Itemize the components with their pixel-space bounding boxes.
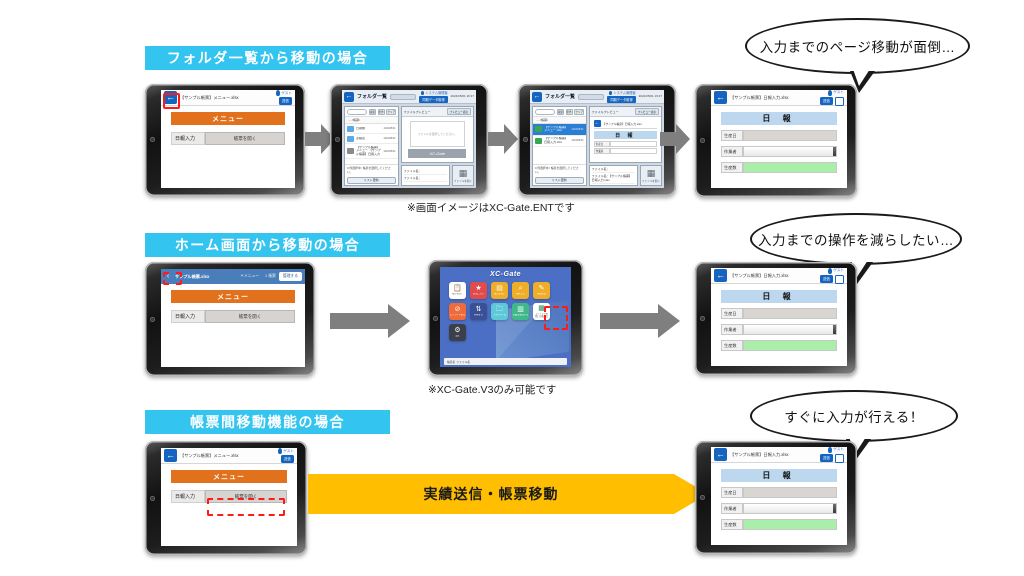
file-name-row: ファイル名： (404, 176, 447, 182)
app-icon-folders[interactable]: 🗀 フォルダ一覧 (491, 303, 508, 320)
section-header-label: ホーム画面から移動の場合 (175, 235, 361, 255)
user-label: ゲスト (828, 447, 844, 453)
user-label: ゲスト (276, 90, 292, 96)
highlight-daily-report-icon (544, 306, 568, 330)
tablet-screen: ← 【サンプル帳票】メニュー.xlsx ゲスト 送信 メニュー 日報入力 帳票を… (161, 90, 295, 188)
user-label: ゲスト (828, 268, 844, 274)
user-label: ゲスト (828, 90, 844, 96)
scrollbar[interactable] (833, 325, 836, 334)
report-title: 日 報 (721, 290, 837, 303)
sync-button[interactable]: 同期データ取得 (607, 96, 635, 103)
flow-arrow-3 (660, 122, 690, 156)
app-icon-find-form[interactable]: ▤ 帳票を探す (491, 282, 508, 299)
xcgate-report-app: ← 【サンプル帳票】日報入力.xlsx ゲスト 送信 日 報 (711, 90, 847, 188)
file-name-label: 【サンプル帳票】日報入力.xlsx (730, 95, 817, 101)
breadcrumb: ...../帳票/ (345, 116, 398, 124)
gear-icon: ⚙ (454, 327, 460, 334)
preview-body: ← 【サンプル帳票】日報入力.xlsx 日 報 生産日 (590, 117, 661, 162)
folder-icon (347, 136, 354, 142)
clock-label: 2024/05/01 16:37 (451, 95, 474, 98)
list-item[interactable]: 【サンプル帳票】メニュー 【サンプル帳票】日報入力 2024/05/01 (345, 144, 398, 159)
user-label: システム管理者 (421, 90, 447, 95)
search-button[interactable]: 検索 (557, 109, 564, 115)
home-button-icon[interactable] (150, 496, 155, 501)
sync-icon: ⇅ (476, 306, 482, 313)
menu-row-label: 日報入力 (171, 132, 205, 145)
tablet-row3-menu: ← 【サンプル帳票】メニュー.xlsx ゲスト 送信 メニュー 日報入力 帳票を… (145, 441, 307, 555)
user-icon (609, 91, 612, 95)
report-row: 作業者 (594, 148, 657, 154)
file-name-label: 【サンプル帳票】日報入力.xlsx (730, 273, 817, 279)
speech-bubble-text: 入力までの操作を減らしたい… (758, 229, 954, 249)
caption-row2: ※XC-Gate.V3のみ可能です (428, 382, 556, 397)
report-row: 生産日 (721, 130, 837, 141)
highlight-back-button (163, 93, 180, 109)
app-toolbar: ← 【サンプル帳票】日報入力.xlsx ゲスト 送信 (711, 268, 847, 284)
calendar-icon: ▦ (647, 169, 656, 178)
list-item[interactable]: 日報類 2024/05/01 (345, 124, 398, 134)
search-row: 検索 条件 クリア (533, 107, 586, 116)
menu-row: 日報入力 帳票を開く (171, 310, 295, 323)
folder-toolbar-right: システム管理者 同期データ取得 (419, 90, 447, 103)
preview-toggle-button[interactable]: プレビュー表示 (635, 108, 659, 115)
clock-label: 2024/05/01 16:37 (639, 95, 662, 98)
preview-toolbar: ファイルプレビュー プレビュー表示 (402, 107, 473, 117)
menu-title: メニュー (171, 112, 285, 125)
folder-icon: 🗀 (496, 306, 503, 313)
tablet-row2-home: XC-Gate 📋 帳票を開く ★ お気に入り ▤ 帳票を探す (428, 260, 583, 376)
toolbar-right: ゲスト 送信 (276, 90, 292, 105)
folder-toolbar: ← フォルダ一覧 システム管理者 同期データ取得 2024/05/01 16:3… (530, 90, 664, 104)
clipboard-icon: 📋 (453, 285, 462, 292)
folder-items: 【サンプル帳票】メニュー.xlsx 2024/05/01 【サンプル帳票】日報入… (533, 124, 586, 164)
preview-toolbar: ファイルプレビュー プレビュー表示 (590, 107, 661, 117)
app-toolbar: ← 【サンプル帳票】日報入力.xlsx ゲスト 送信 (711, 447, 847, 463)
app-toolbar: ‹ サンプル帳票.xlsx ＊メニュー 1 帳票 管理する (161, 269, 305, 284)
preview-empty-message: ファイルを選択してください。 (410, 121, 465, 147)
back-icon[interactable]: ← (164, 449, 177, 462)
quantity-field[interactable] (743, 340, 837, 351)
tablet-row1-folderlist: ← フォルダ一覧 システム管理者 同期データ取得 2024/05/01 16:3… (330, 84, 488, 196)
user-icon (278, 448, 282, 454)
mini-report-preview: ← 【サンプル帳票】日報入力.xlsx 日 報 生産日 (592, 119, 659, 155)
toolbar-right: ゲスト 送信 (820, 447, 844, 463)
folder-icon (347, 126, 354, 132)
open-file-button[interactable]: ▦ ファイルを開く (452, 165, 474, 186)
file-name-label: 【サンプル帳票】日報入力.xlsx (730, 452, 817, 458)
menu-row: 日報入力 帳票を開く (171, 132, 285, 145)
tablet-row2-report: ← 【サンプル帳票】日報入力.xlsx ゲスト 送信 日 報 (695, 262, 857, 375)
app-icon-grid: 📋 帳票を開く ★ お気に入り ▤ 帳票を探す ⌕ 検索する (449, 282, 550, 341)
file-name-row: ファイル名： (404, 169, 447, 175)
search-input[interactable] (535, 109, 556, 115)
back-icon[interactable]: ← (344, 92, 354, 102)
tablet-row2-menu: ‹ サンプル帳票.xlsx ＊メニュー 1 帳票 管理する メニュー 日報入力 … (145, 262, 315, 376)
condition-button[interactable]: 条件 (566, 109, 573, 115)
report-row: 作業者 (721, 503, 837, 514)
tablet-screen: ‹ サンプル帳票.xlsx ＊メニュー 1 帳票 管理する メニュー 日報入力 … (161, 269, 305, 367)
user-icon (828, 90, 832, 96)
back-icon[interactable]: ← (714, 448, 727, 461)
search-button[interactable]: 検索 (369, 109, 376, 115)
file-name-row: ファイル名：【サンプル帳票】日報入力.xlsx (592, 174, 635, 184)
section-header-form-jump: 帳票間移動機能の場合 (145, 410, 390, 434)
home-button-icon[interactable] (523, 137, 528, 142)
highlight-back-chevron (163, 272, 182, 285)
tablet-row3-report: ← 【サンプル帳票】日報入力.xlsx ゲスト 送信 日 報 (695, 441, 857, 554)
breadcrumb: ...../帳票/ (533, 116, 586, 124)
app-toolbar: ← 【サンプル帳票】日報入力.xlsx ゲスト 送信 (711, 90, 847, 106)
home-button-icon[interactable] (700, 495, 705, 500)
home-button-icon[interactable] (150, 317, 155, 322)
xcgate-menu-app-v3: ‹ サンプル帳票.xlsx ＊メニュー 1 帳票 管理する メニュー 日報入力 … (161, 269, 305, 367)
folder-list-panel: 検索 条件 クリア ...../帳票/ 【サンプル帳票】メニュー.xlsx 20… (532, 106, 587, 186)
tablet-screen: ← 【サンプル帳票】日報入力.xlsx ゲスト 送信 日 報 (711, 90, 847, 188)
file-name-label: 【サンプル帳票】メニュー.xlsx (180, 95, 273, 101)
report-field[interactable] (610, 148, 657, 154)
folder-status: 0 件選択中 / 帳票を選択してください。 (345, 164, 398, 175)
speech-bubble-3: すぐに入力が行える！ (750, 390, 958, 442)
file-name-rows: ファイル名： ファイル名：【サンプル帳票】日報入力.xlsx (589, 165, 638, 186)
user-icon (276, 90, 280, 96)
menu-row-label: 日報入力 (171, 490, 205, 503)
back-icon[interactable]: ← (594, 120, 601, 127)
menu-icon[interactable] (835, 97, 844, 106)
open-form-button[interactable]: 帳票を開く (205, 132, 285, 145)
folder-list-panel: 検索 条件 クリア ...../帳票/ 日報類 2024/05/01 (344, 106, 399, 186)
section-header-label: 帳票間移動機能の場合 (190, 412, 345, 432)
operator-field[interactable] (743, 146, 837, 157)
user-icon (828, 268, 832, 274)
production-date-field[interactable] (743, 130, 837, 141)
xcgate-logo: XC-Gate (408, 149, 466, 158)
app-toolbar: ← 【サンプル帳票】メニュー.xlsx ゲスト 送信 (161, 90, 295, 106)
calendar-icon: ▦ (459, 169, 468, 178)
tablet-screen: ← フォルダ一覧 システム管理者 同期データ取得 2024/05/01 16:3… (530, 90, 664, 188)
tablet-row1-folderlist-preview: ← フォルダ一覧 システム管理者 同期データ取得 2024/05/01 16:3… (518, 84, 676, 196)
section-header-home-screen: ホーム画面から移動の場合 (145, 233, 390, 257)
document-icon (535, 138, 542, 144)
section-header-label: フォルダ一覧から移動の場合 (167, 48, 369, 68)
report-row: 生産日 (721, 308, 837, 319)
user-icon (828, 447, 832, 453)
preview-title: ファイルプレビュー (592, 110, 619, 114)
speech-bubble-text: すぐに入力が行える！ (784, 406, 924, 426)
open-file-button[interactable]: ▦ ファイルを開く (640, 165, 662, 186)
folder-toolbar: ← フォルダ一覧 システム管理者 同期データ取得 2024/05/01 16:3… (342, 90, 476, 104)
operator-field[interactable] (743, 503, 837, 514)
document-icon: ▤ (496, 285, 503, 292)
app-icon-settings[interactable]: ⚙ 設定 (449, 324, 466, 341)
mini-report-toolbar: ← 【サンプル帳票】日報入力.xlsx (594, 120, 657, 129)
star-icon: ★ (475, 285, 481, 292)
dock-bar: 帳票名 ファイル名 (444, 358, 567, 365)
folder-preview-panel: ファイルプレビュー プレビュー表示 ファイルを選択してください。 XC-Gate… (401, 106, 474, 186)
slide-canvas: フォルダ一覧から移動の場合 ホーム画面から移動の場合 帳票間移動機能の場合 入力… (0, 0, 1024, 576)
folder-items: 日報類 2024/05/01 点検表 2024/05/01 【サンプル帳票】メニ… (345, 124, 398, 164)
arrow-shape (600, 303, 680, 339)
section-header-folder-list: フォルダ一覧から移動の場合 (145, 46, 390, 70)
menu-title: メニュー (171, 290, 295, 303)
camera-icon (297, 139, 300, 142)
app-toolbar: ← 【サンプル帳票】メニュー.xlsx ゲスト 送信 (161, 448, 297, 464)
scrollbar[interactable] (833, 504, 836, 513)
operator-field[interactable] (743, 324, 837, 335)
home-button-icon[interactable] (700, 316, 705, 321)
folder-list-app: ← フォルダ一覧 システム管理者 同期データ取得 2024/05/01 16:3… (342, 90, 476, 188)
preview-card: ファイルプレビュー プレビュー表示 ファイルを選択してください。 XC-Gate (401, 106, 474, 163)
list-item[interactable]: 【サンプル帳票】日報入力.xlsx 2024/05/01 (533, 136, 586, 148)
preview-footer: ファイル名： ファイル名：【サンプル帳票】日報入力.xlsx ▦ ファイルを開く (589, 165, 662, 186)
menu-row-label: 日報入力 (171, 310, 205, 323)
quantity-field[interactable] (743, 519, 837, 530)
folder-title: フォルダ一覧 (357, 93, 387, 100)
flow-arrow-orange: 実績送信・帳票移動 (308, 474, 708, 514)
app-icon-new[interactable]: ✎ 新規作成 (533, 282, 550, 299)
file-name-label: 【サンプル帳票】日報入力.xlsx (603, 122, 642, 126)
send-button[interactable]: 送信 (820, 275, 833, 283)
folder-preview-panel: ファイルプレビュー プレビュー表示 ← 【サンプル帳票】日報入力.xlsx 日 … (589, 106, 662, 186)
file-name-label: 【サンプル帳票】メニュー.xlsx (180, 453, 275, 459)
app-icon-favorites[interactable]: ★ お気に入り (470, 282, 487, 299)
report-title: 日 報 (721, 112, 837, 125)
sync-button[interactable]: 同期データ取得 (419, 96, 447, 103)
tablet-row1-menu: ← 【サンプル帳票】メニュー.xlsx ゲスト 送信 メニュー 日報入力 帳票を… (145, 84, 305, 196)
speech-bubble-1: 入力までのページ移動が面倒… (745, 18, 970, 74)
app-icon-sync[interactable]: ⇅ 同期する (470, 303, 487, 320)
xcgate-menu-app: ← 【サンプル帳票】メニュー.xlsx ゲスト 送信 メニュー 日報入力 帳票を… (161, 448, 297, 546)
preview-title: ファイルプレビュー (404, 110, 431, 114)
home-button-icon[interactable] (700, 138, 705, 143)
folder-select-pill[interactable] (578, 94, 604, 100)
menu-title: メニュー (171, 470, 287, 483)
back-icon[interactable]: ← (714, 269, 727, 282)
report-title: 日 報 (721, 469, 837, 482)
scrollbar[interactable] (833, 147, 836, 156)
send-button[interactable]: 送信 (820, 454, 833, 462)
production-date-field[interactable] (743, 308, 837, 319)
chart-icon: ▥ (517, 306, 524, 313)
search-row: 検索 条件 クリア (345, 107, 398, 116)
arrow-shape (330, 303, 410, 339)
user-label: システム管理者 (609, 90, 635, 95)
back-icon[interactable]: ← (714, 91, 727, 104)
search-input[interactable] (347, 109, 368, 115)
tablet-screen: ← 【サンプル帳票】日報入力.xlsx ゲスト 送信 日 報 (711, 447, 847, 545)
file-name-label: サンプル帳票.xlsx (175, 274, 237, 280)
tablet-screen: ← 【サンプル帳票】メニュー.xlsx ゲスト 送信 メニュー 日報入力 帳票を… (161, 448, 297, 546)
folder-title: フォルダ一覧 (545, 93, 575, 100)
manage-button[interactable]: 管理する (279, 272, 302, 281)
preview-footer: ファイル名： ファイル名： ▦ ファイルを開く (401, 165, 474, 186)
folder-list-app: ← フォルダ一覧 システム管理者 同期データ取得 2024/05/01 16:3… (530, 90, 664, 188)
folder-body: 検索 条件 クリア ...../帳票/ 【サンプル帳票】メニュー.xlsx 20… (530, 104, 664, 188)
report-row: 作業者 (721, 146, 837, 157)
caption-row1: ※画面イメージはXC-Gate.ENTです (407, 200, 575, 215)
xcgate-report-app: ← 【サンプル帳票】日報入力.xlsx ゲスト 送信 日 報 (711, 268, 847, 366)
home-button-icon[interactable] (433, 316, 438, 321)
file-name-row: ファイル名： (592, 167, 635, 173)
send-button[interactable]: 送信 (820, 97, 833, 105)
speech-bubble-text: 入力までのページ移動が面倒… (760, 36, 956, 56)
clear-button[interactable]: クリア (574, 109, 584, 115)
highlight-open-form-button (207, 498, 285, 516)
app-icon-open-form[interactable]: 📋 帳票を開く (449, 282, 466, 299)
arrow-shape (488, 122, 518, 156)
home-button-icon[interactable] (150, 137, 155, 142)
back-icon[interactable]: ← (532, 92, 542, 102)
preview-toggle-button[interactable]: プレビュー表示 (447, 108, 471, 115)
refresh-list-button[interactable]: リスト更新 (535, 177, 585, 184)
xcgate-logo: XC-Gate (490, 271, 521, 278)
production-date-field[interactable] (743, 487, 837, 498)
folder-status: 0 件選択中 / 帳票を選択してください。 (533, 164, 586, 175)
tablet-screen: ← フォルダ一覧 システム管理者 同期データ取得 2024/05/01 16:3… (342, 90, 476, 188)
user-icon (421, 91, 424, 95)
offline-icon: ⊘ (455, 306, 461, 313)
arrow-shape (660, 122, 690, 156)
report-row: 生産数 (721, 340, 837, 351)
toolbar-right: ゲスト 送信 (820, 90, 844, 106)
file-name-rows: ファイル名： ファイル名： (401, 165, 450, 186)
report-row: 生産日 (594, 141, 657, 147)
user-label: ゲスト (278, 448, 294, 454)
speech-bubble-2: 入力までの操作を減らしたい… (750, 213, 962, 265)
xcgate-report-app: ← 【サンプル帳票】日報入力.xlsx ゲスト 送信 日 報 (711, 447, 847, 545)
arrow-label: 実績送信・帳票移動 (308, 474, 708, 514)
preview-body: ファイルを選択してください。 XC-Gate (402, 117, 473, 162)
app-icon-offline[interactable]: ⊘ オフライン帳票 (449, 303, 466, 320)
app-icon-results[interactable]: ▥ 実績を確認する (512, 303, 529, 320)
search-icon: ⌕ (519, 285, 523, 292)
toolbar-right: ゲスト 送信 (820, 268, 844, 284)
report-field[interactable] (610, 141, 657, 147)
refresh-list-button[interactable]: リスト更新 (347, 177, 397, 184)
menu-icon[interactable] (835, 454, 844, 463)
list-item[interactable]: 点検表 2024/05/01 (345, 134, 398, 144)
menu-icon[interactable] (835, 275, 844, 284)
document-icon (535, 126, 542, 132)
folder-select-pill[interactable] (390, 94, 416, 100)
preview-card: ファイルプレビュー プレビュー表示 ← 【サンプル帳票】日報入力.xlsx 日 … (589, 106, 662, 163)
clear-button[interactable]: クリア (386, 109, 396, 115)
open-form-button[interactable]: 帳票を開く (205, 310, 295, 323)
condition-button[interactable]: 条件 (378, 109, 385, 115)
pencil-icon: ✎ (539, 285, 545, 292)
report-title: 日 報 (594, 131, 657, 139)
home-button-icon[interactable] (335, 137, 340, 142)
list-item[interactable]: 【サンプル帳票】メニュー.xlsx 2024/05/01 (533, 124, 586, 136)
report-row: 生産数 (721, 162, 837, 173)
send-button[interactable]: 送信 (279, 97, 292, 105)
tablet-screen: ← 【サンプル帳票】日報入力.xlsx ゲスト 送信 日 報 (711, 268, 847, 366)
folder-toolbar-right: システム管理者 同期データ取得 (607, 90, 635, 103)
toolbar-middle: ＊メニュー 1 帳票 (240, 274, 276, 279)
flow-arrow-4 (330, 303, 410, 339)
report-row: 生産日 (721, 487, 837, 498)
report-row: 作業者 (721, 324, 837, 335)
app-icon-search[interactable]: ⌕ 検索する (512, 282, 529, 299)
flow-arrow-5 (600, 303, 680, 339)
xcgate-menu-app: ← 【サンプル帳票】メニュー.xlsx ゲスト 送信 メニュー 日報入力 帳票を… (161, 90, 295, 188)
quantity-field[interactable] (743, 162, 837, 173)
tablet-row1-report: ← 【サンプル帳票】日報入力.xlsx ゲスト 送信 日 報 (695, 84, 857, 197)
send-button[interactable]: 送信 (281, 455, 294, 463)
wrench-icon (347, 148, 354, 154)
flow-arrow-2 (488, 122, 518, 156)
toolbar-right: ゲスト 送信 (278, 448, 294, 463)
folder-body: 検索 条件 クリア ...../帳票/ 日報類 2024/05/01 (342, 104, 476, 188)
report-row: 生産数 (721, 519, 837, 530)
